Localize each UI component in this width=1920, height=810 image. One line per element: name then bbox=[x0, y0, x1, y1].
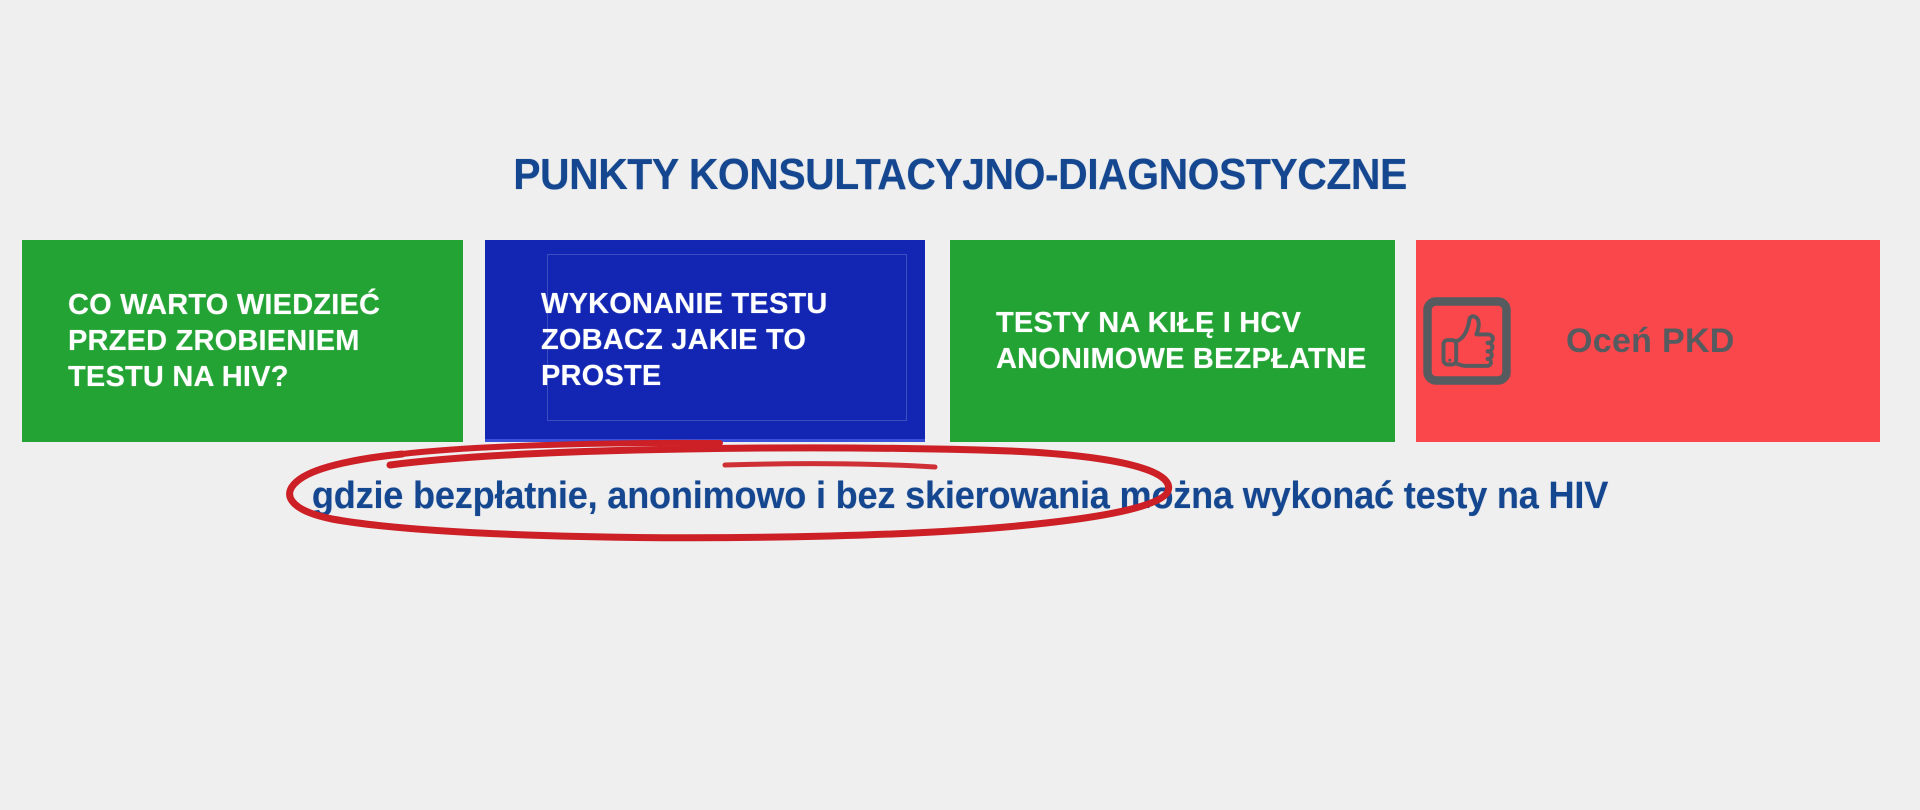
tile-how-to-test-label: WYKONANIE TESTU ZOBACZ JAKIE TO PROSTE bbox=[541, 286, 911, 394]
tile-rate-pkd[interactable]: Oceń PKD bbox=[1416, 240, 1880, 442]
page-caption: gdzie bezpłatnie, anonimowo i bez skiero… bbox=[48, 475, 1872, 518]
tile-row: CO WARTO WIEDZIEĆ PRZED ZROBIENIEM TESTU… bbox=[0, 240, 1920, 442]
rate-pkd-row: Oceń PKD bbox=[1416, 240, 1880, 442]
tile-how-to-test[interactable]: WYKONANIE TESTU ZOBACZ JAKIE TO PROSTE bbox=[485, 240, 925, 442]
page-canvas: PUNKTY KONSULTACYJNO-DIAGNOSTYCZNE CO WA… bbox=[0, 0, 1920, 810]
page-title: PUNKTY KONSULTACYJNO-DIAGNOSTYCZNE bbox=[67, 149, 1853, 201]
tile-syphilis-hcv-label: TESTY NA KIŁĘ I HCV ANONIMOWE BEZPŁATNE bbox=[996, 305, 1381, 377]
thumbs-up-icon bbox=[1420, 294, 1514, 388]
tile-rate-pkd-label: Oceń PKD bbox=[1566, 322, 1735, 361]
tile-syphilis-hcv[interactable]: TESTY NA KIŁĘ I HCV ANONIMOWE BEZPŁATNE bbox=[950, 240, 1395, 442]
tile-hiv-info-label: CO WARTO WIEDZIEĆ PRZED ZROBIENIEM TESTU… bbox=[68, 287, 449, 395]
tile-hiv-info[interactable]: CO WARTO WIEDZIEĆ PRZED ZROBIENIEM TESTU… bbox=[22, 240, 463, 442]
